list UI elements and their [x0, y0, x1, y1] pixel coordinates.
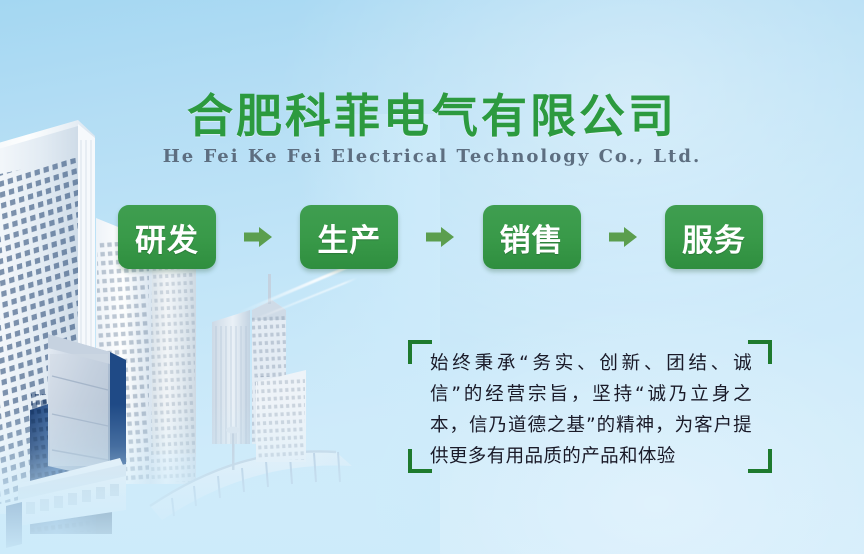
- arrow-right-icon-2: [425, 226, 455, 248]
- process-step-label: 生产: [317, 215, 381, 260]
- process-step-rd[interactable]: 研发: [118, 205, 216, 269]
- process-step-service[interactable]: 服务: [665, 205, 763, 269]
- process-step-label: 服务: [682, 215, 746, 260]
- process-step-production[interactable]: 生产: [300, 205, 398, 269]
- sky-glow-decoration: [284, 0, 864, 380]
- process-step-label: 销售: [500, 215, 564, 260]
- company-name-chinese: 合肥科菲电气有限公司: [0, 93, 864, 139]
- city-right-fade: [300, 114, 440, 554]
- city-skyline-image: [0, 114, 430, 554]
- process-flow: 研发 生产 销售 服务: [118, 205, 763, 269]
- arrow-right-icon-3: [608, 226, 638, 248]
- company-name-english: He Fei Ke Fei Electrical Technology Co.,…: [0, 148, 864, 166]
- bracket-bottom-left-icon: [408, 449, 432, 473]
- process-step-label: 研发: [135, 215, 199, 260]
- city-bottom-fade: [0, 404, 430, 554]
- company-banner: 合肥科菲电气有限公司 He Fei Ke Fei Electrical Tech…: [0, 0, 864, 554]
- company-motto-block: 始终秉承“务实、创新、团结、诚信”的经营宗旨，坚持“诚乃立身之本，信乃道德之基”…: [408, 340, 772, 473]
- arrow-right-icon-1: [243, 226, 273, 248]
- company-motto-text: 始终秉承“务实、创新、团结、诚信”的经营宗旨，坚持“诚乃立身之本，信乃道德之基”…: [430, 348, 752, 472]
- light-streak-secondary-decoration: [246, 277, 358, 324]
- process-step-sales[interactable]: 销售: [483, 205, 581, 269]
- bracket-top-left-icon: [408, 340, 432, 364]
